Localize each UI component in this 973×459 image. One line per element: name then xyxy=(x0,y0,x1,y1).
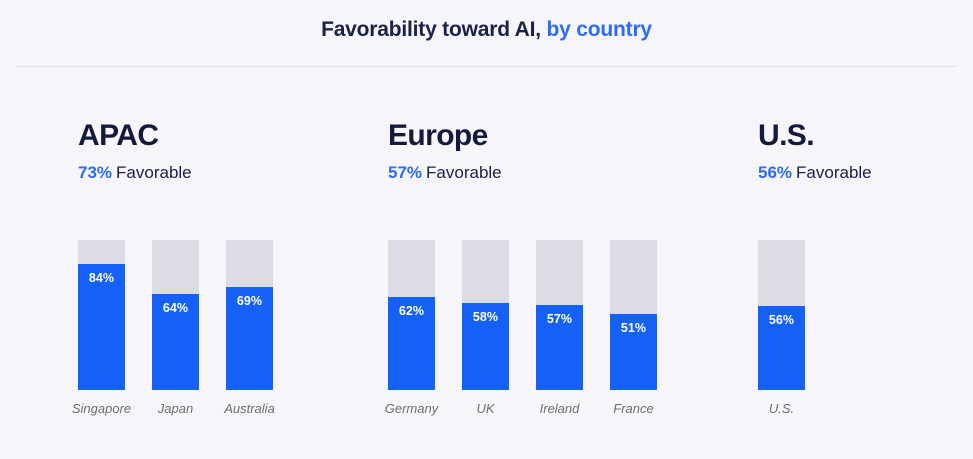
region-name-europe: Europe xyxy=(388,118,502,154)
region-header-apac: APAC 73%Favorable xyxy=(78,118,192,184)
bar-fill-singapore: 84% xyxy=(78,264,125,390)
bar-value-us: 56% xyxy=(758,313,805,327)
bar-fill-ireland: 57% xyxy=(536,305,583,391)
bar-track-japan: 64% xyxy=(152,240,199,390)
bar-column-singapore: 84% Singapore xyxy=(78,240,125,416)
bar-column-australia: 69% Australia xyxy=(226,240,273,416)
bar-track-ireland: 57% xyxy=(536,240,583,390)
region-summary-us: 56%Favorable xyxy=(758,162,872,184)
bar-label-japan: Japan xyxy=(158,401,193,416)
bar-label-us: U.S. xyxy=(769,401,794,416)
bar-track-france: 51% xyxy=(610,240,657,390)
bar-track-uk: 58% xyxy=(462,240,509,390)
chart-page: Favorability toward AI, by country APAC … xyxy=(0,0,973,459)
bar-value-australia: 69% xyxy=(226,294,273,308)
bar-track-germany: 62% xyxy=(388,240,435,390)
region-summary-pct-us: 56% xyxy=(758,163,792,182)
region-summary-word-europe: Favorable xyxy=(426,163,502,182)
region-name-us: U.S. xyxy=(758,118,872,154)
bar-value-japan: 64% xyxy=(152,301,199,315)
region-summary-word-us: Favorable xyxy=(796,163,872,182)
bar-label-singapore: Singapore xyxy=(72,401,131,416)
bar-group-us: 56% U.S. xyxy=(758,240,805,416)
bar-fill-australia: 69% xyxy=(226,287,273,391)
region-name-apac: APAC xyxy=(78,118,192,154)
bar-column-japan: 64% Japan xyxy=(152,240,199,416)
bar-label-uk: UK xyxy=(476,401,494,416)
bar-value-singapore: 84% xyxy=(78,271,125,285)
bar-column-uk: 58% UK xyxy=(462,240,509,416)
bar-group-europe: 62% Germany 58% UK 57% Ireland xyxy=(388,240,657,416)
bar-fill-germany: 62% xyxy=(388,297,435,390)
bar-label-australia: Australia xyxy=(224,401,275,416)
title-accent-text: by country xyxy=(547,18,652,41)
bar-label-france: France xyxy=(613,401,653,416)
bar-label-germany: Germany xyxy=(385,401,438,416)
region-summary-apac: 73%Favorable xyxy=(78,162,192,184)
title-main-text: Favorability toward AI, xyxy=(321,18,541,41)
bar-track-australia: 69% xyxy=(226,240,273,390)
region-header-europe: Europe 57%Favorable xyxy=(388,118,502,184)
bar-label-ireland: Ireland xyxy=(540,401,580,416)
bar-column-france: 51% France xyxy=(610,240,657,416)
bar-column-germany: 62% Germany xyxy=(388,240,435,416)
title-divider xyxy=(16,66,957,67)
bar-track-singapore: 84% xyxy=(78,240,125,390)
bar-group-apac: 84% Singapore 64% Japan 69% Australia xyxy=(78,240,273,416)
bar-column-ireland: 57% Ireland xyxy=(536,240,583,416)
region-summary-pct-apac: 73% xyxy=(78,163,112,182)
bar-fill-us: 56% xyxy=(758,306,805,390)
bar-value-uk: 58% xyxy=(462,310,509,324)
bar-fill-japan: 64% xyxy=(152,294,199,390)
bar-value-france: 51% xyxy=(610,321,657,335)
region-summary-pct-europe: 57% xyxy=(388,163,422,182)
bar-track-us: 56% xyxy=(758,240,805,390)
chart-title-area: Favorability toward AI, by country xyxy=(0,18,973,42)
region-summary-word-apac: Favorable xyxy=(116,163,192,182)
bar-value-germany: 62% xyxy=(388,304,435,318)
page-title: Favorability toward AI, by country xyxy=(0,18,973,42)
bar-fill-france: 51% xyxy=(610,314,657,391)
bar-fill-uk: 58% xyxy=(462,303,509,390)
bar-column-us: 56% U.S. xyxy=(758,240,805,416)
bar-value-ireland: 57% xyxy=(536,312,583,326)
region-header-us: U.S. 56%Favorable xyxy=(758,118,872,184)
region-summary-europe: 57%Favorable xyxy=(388,162,502,184)
